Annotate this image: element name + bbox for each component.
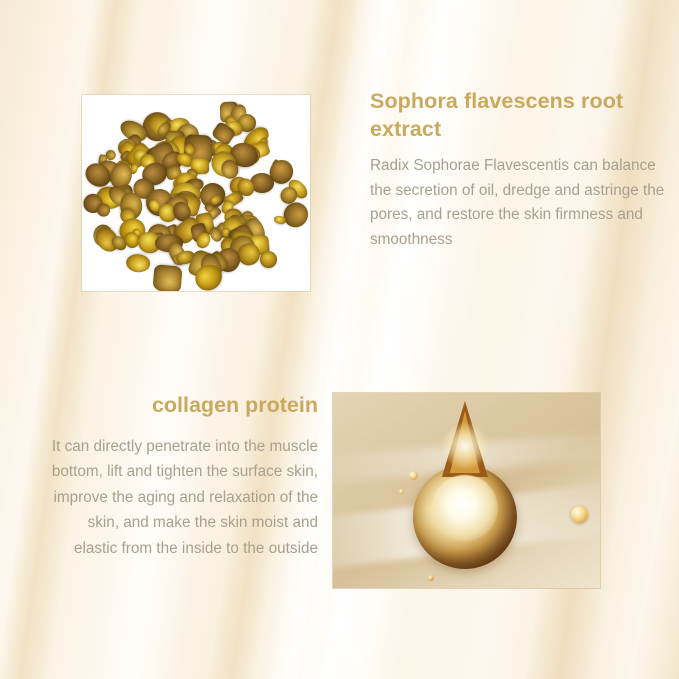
oil-bubble [399,489,404,494]
collagen-text-block: collagen protein It can directly penetra… [45,392,318,561]
droplet-inner-sphere [431,475,497,541]
sophora-heading: Sophora flavescens root extract [370,88,670,144]
product-infographic: Sophora flavescens root extract Radix So… [0,0,679,679]
sophora-root-image [82,95,310,291]
oil-droplet-image [333,393,600,588]
collagen-body: It can directly penetrate into the muscl… [45,434,318,561]
sophora-body: Radix Sophorae Flavescentis can balance … [370,154,670,253]
herb-slices-illustration [82,95,310,291]
sophora-text-block: Sophora flavescens root extract Radix So… [370,88,670,253]
oil-bubble [428,575,434,581]
droplet-glow [441,423,487,469]
oil-bubble [409,471,418,480]
droplet-illustration [412,401,516,569]
oil-bubble [571,506,588,523]
collagen-heading: collagen protein [45,392,318,420]
